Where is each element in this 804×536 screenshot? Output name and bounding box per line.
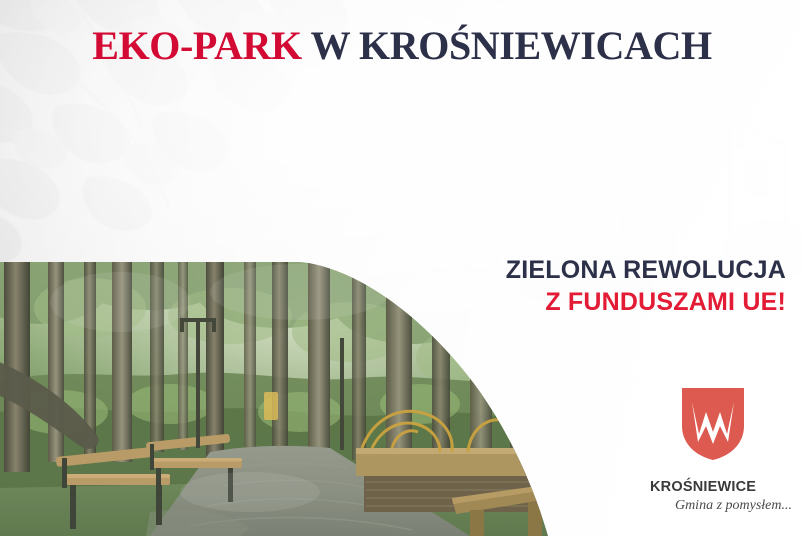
title-w-krosniewicach: W KROŚNIEWICACH <box>302 23 712 68</box>
title-eko-park: EKO-PARK <box>92 23 301 68</box>
logo-tagline: Gmina z pomysłem... <box>648 498 796 514</box>
subtitle-block: ZIELONA REWOLUCJA Z FUNDUSZAMI UE! <box>506 256 786 316</box>
page-title: EKO-PARK W KROŚNIEWICACH <box>0 26 804 66</box>
subtitle-line-1: ZIELONA REWOLUCJA <box>506 256 786 285</box>
subtitle-line-2: Z FUNDUSZAMI UE! <box>506 288 786 317</box>
park-photo-image <box>0 262 560 536</box>
municipality-logo: KROŚNIEWICE Gmina z pomysłem... <box>648 386 796 526</box>
park-photo <box>0 262 560 536</box>
logo-municipality-name: KROŚNIEWICE <box>648 479 796 495</box>
krosniewice-coat-of-arms-icon <box>680 386 746 462</box>
poster-canvas: EKO-PARK W KROŚNIEWICACH <box>0 0 804 536</box>
